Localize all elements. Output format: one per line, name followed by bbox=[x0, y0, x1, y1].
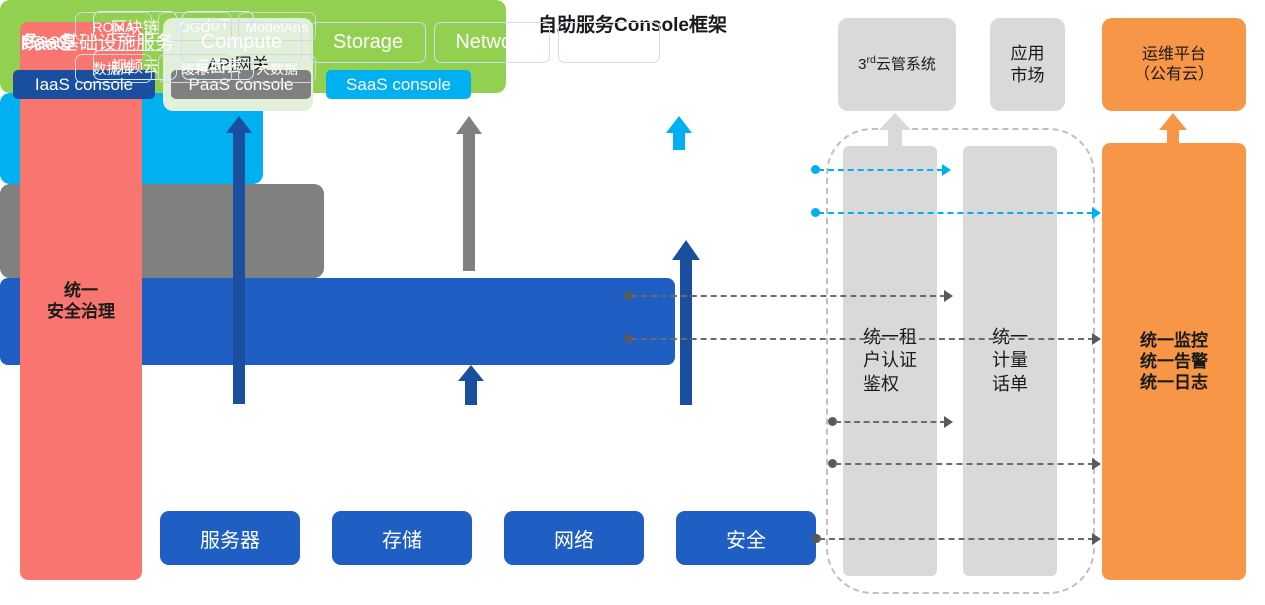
ops-bottom-line1: 统一监控 bbox=[1140, 330, 1208, 351]
meter-line3: 话单 bbox=[992, 373, 1028, 396]
ops-platform-public-cloud-box: 运维平台 （公有云） bbox=[1102, 18, 1246, 111]
cloud-manager-label: 3rd云管系统 bbox=[858, 54, 936, 75]
connector-saas-to-ops bbox=[818, 212, 1093, 214]
infra-chip-cce[interactable]: CCE bbox=[558, 22, 660, 63]
infra-chip-network[interactable]: Network bbox=[434, 22, 550, 63]
app-market-line2: 市场 bbox=[1011, 65, 1045, 86]
arrow-saas-to-console bbox=[666, 116, 692, 150]
infrastructure-label: 统一基础设施服务 bbox=[22, 28, 174, 55]
connector-arrowhead-infra-auth bbox=[944, 416, 953, 428]
connector-arrowhead-saas-auth bbox=[942, 164, 951, 176]
connector-arrowhead-saas-ops bbox=[1092, 207, 1101, 219]
unified-monitoring-panel: 统一监控 统一告警 统一日志 bbox=[1102, 143, 1246, 580]
security-line2: 安全治理 bbox=[47, 301, 115, 322]
connector-arrowhead-infra-ops bbox=[1092, 458, 1101, 470]
hardware-box-network: 网络 bbox=[504, 511, 644, 565]
hardware-box-server: 服务器 bbox=[160, 511, 300, 565]
connector-infra-to-ops bbox=[835, 463, 1094, 465]
unified-security-governance-panel: 统一 安全治理 bbox=[20, 22, 142, 580]
ops-bottom-line3: 统一日志 bbox=[1140, 372, 1208, 393]
connector-paas-to-ops bbox=[631, 338, 1094, 340]
ops-top-line1: 运维平台 bbox=[1134, 45, 1214, 65]
connector-arrowhead-paas-ops bbox=[1092, 333, 1101, 345]
arrow-paas-to-console bbox=[456, 116, 482, 271]
saas-console-chip[interactable]: SaaS console bbox=[326, 70, 471, 99]
connector-saas-to-auth bbox=[818, 169, 943, 171]
ops-top-line2: （公有云） bbox=[1134, 65, 1214, 85]
infra-chip-storage[interactable]: Storage bbox=[310, 22, 426, 63]
auth-line3: 鉴权 bbox=[863, 373, 917, 396]
connector-paas-to-auth bbox=[631, 295, 946, 297]
arrow-infra-to-paas bbox=[458, 365, 484, 405]
architecture-diagram: 统一 安全治理 API网关 自助服务Console框架 IaaS console… bbox=[0, 0, 1265, 605]
unified-metering-billing-column: 统一 计量 话单 bbox=[963, 146, 1057, 576]
arrow-infra-to-api-gateway bbox=[226, 116, 252, 404]
auth-line2: 户认证 bbox=[863, 349, 917, 372]
hardware-box-security: 安全 bbox=[676, 511, 816, 565]
connector-infra-to-auth bbox=[835, 421, 946, 423]
connector-arrowhead-hardware-ops bbox=[1092, 533, 1101, 545]
app-market-line1: 应用 bbox=[1011, 43, 1045, 64]
arrow-auth-to-cloud-manager bbox=[879, 113, 911, 146]
hardware-box-storage: 存储 bbox=[332, 511, 472, 565]
unified-tenant-auth-column: 统一租 户认证 鉴权 bbox=[843, 146, 937, 576]
paas-chip-database[interactable]: 数据库 bbox=[75, 54, 152, 83]
third-party-cloud-manager-box: 3rd云管系统 bbox=[838, 18, 956, 111]
connector-arrowhead-paas-auth bbox=[944, 290, 953, 302]
infra-chip-compute[interactable]: Compute bbox=[181, 22, 302, 63]
arrow-ops-to-ops-platform bbox=[1159, 113, 1187, 145]
app-market-box: 应用 市场 bbox=[990, 18, 1065, 111]
security-line1: 统一 bbox=[47, 280, 115, 301]
arrow-infra-to-saas bbox=[672, 240, 700, 405]
meter-line2: 计量 bbox=[992, 349, 1028, 372]
ops-bottom-line2: 统一告警 bbox=[1140, 351, 1208, 372]
connector-hardware-to-ops bbox=[819, 538, 1094, 540]
